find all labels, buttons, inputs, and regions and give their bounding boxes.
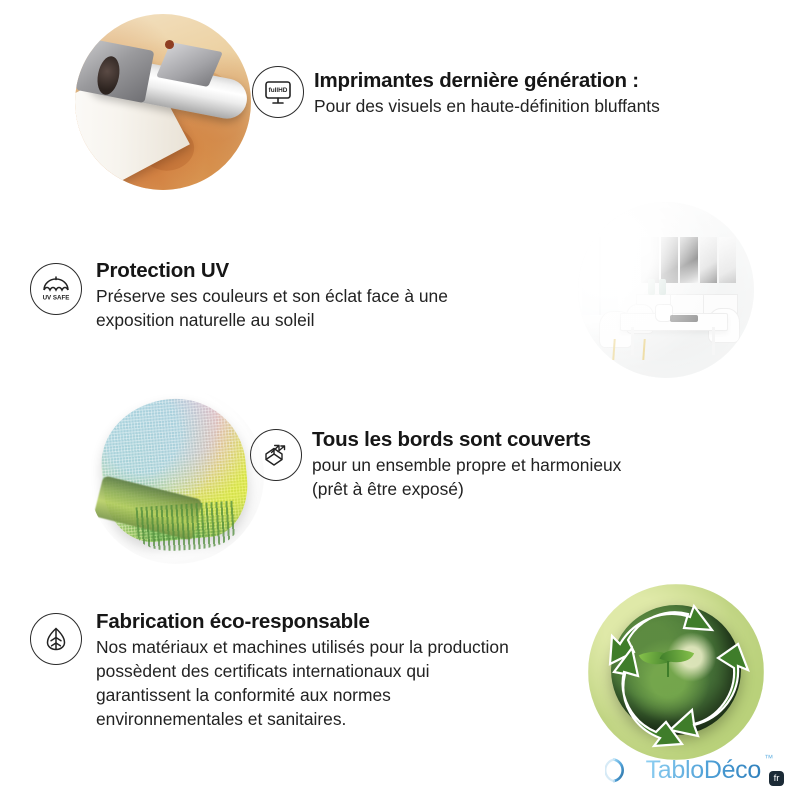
uv-safe-umbrella-icon: UV SAFE — [30, 263, 82, 315]
canvas-corner-colorful-photo — [88, 388, 264, 564]
feature-body-line: exposition naturelle au soleil — [96, 309, 448, 333]
feature-body: pour un ensemble propre et harmonieux (p… — [312, 454, 621, 502]
uv-safe-icon-label: UV SAFE — [43, 294, 70, 301]
feature-title: Fabrication éco-responsable — [96, 609, 509, 634]
brand-logo[interactable]: TabloDéco ™ fr — [605, 752, 784, 788]
feature-body-line: garantissent la conformité aux normes — [96, 684, 509, 708]
brand-wordmark: TabloDéco ™ — [646, 758, 761, 783]
wrapped-canvas-edges-icon — [250, 429, 302, 481]
feature-body-line: Nos matériaux et machines utilisés pour … — [96, 636, 509, 660]
feature-body: Pour des visuels en haute-définition blu… — [314, 95, 660, 119]
feature-body-line: environnementales et sanitaires. — [96, 708, 509, 732]
leaf-icon — [30, 613, 82, 665]
domain-badge-fr: fr — [769, 771, 784, 786]
recycling-arrows — [588, 584, 764, 760]
feature-title: Imprimantes dernière génération : — [314, 68, 660, 93]
bright-dining-room-canvas-photo — [578, 202, 754, 378]
window-light-glow — [578, 202, 754, 378]
feature-title: Protection UV — [96, 258, 448, 283]
printer-red-knob — [165, 40, 174, 49]
brand-wordmark-text: TabloDéco — [646, 756, 761, 784]
feature-title: Tous les bords sont couverts — [312, 427, 621, 452]
feature-body-line: possèdent des certificats internationaux… — [96, 660, 509, 684]
green-earth-recycling-photo — [588, 584, 764, 760]
printer-roller-world-map-photo — [75, 14, 251, 190]
feature-body-line: Préserve ses couleurs et son éclat face … — [96, 285, 448, 309]
feature-body: Nos matériaux et machines utilisés pour … — [96, 636, 509, 731]
trademark-symbol: ™ — [764, 754, 773, 763]
infographic-canvas: fullHD Imprimantes dernière génération :… — [0, 0, 800, 800]
leaf-stem — [667, 661, 669, 677]
fullhd-icon-label: fullHD — [269, 87, 288, 94]
fullhd-monitor-icon: fullHD — [252, 66, 304, 118]
feature-body: Préserve ses couleurs et son éclat face … — [96, 285, 448, 333]
feature-body-line: Pour des visuels en haute-définition blu… — [314, 95, 660, 119]
tablodeco-d-monogram — [605, 752, 639, 788]
feature-body-line: (prêt à être exposé) — [312, 478, 621, 502]
feature-body-line: pour un ensemble propre et harmonieux — [312, 454, 621, 478]
